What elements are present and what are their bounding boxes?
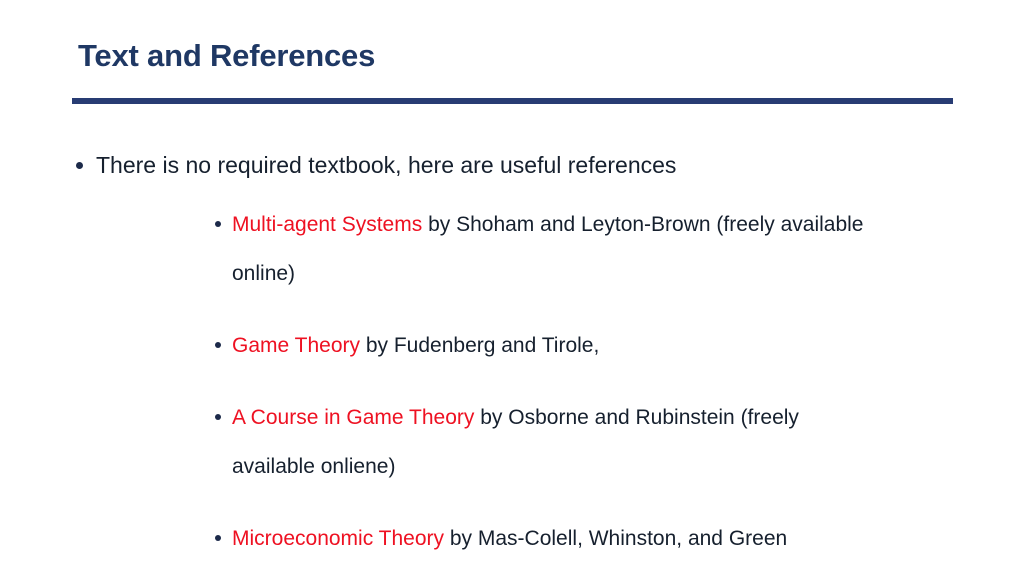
bullet-text: There is no required textbook, here are … (96, 152, 676, 178)
reference-detail: by Mas-Colell, Whinston, and Green (444, 527, 787, 550)
bullet-list-level-2: Multi-agent Systems by Shoham and Leyton… (96, 200, 964, 576)
reference-title: Microeconomic Theory (232, 527, 444, 550)
slide-body: There is no required textbook, here are … (0, 150, 1024, 576)
list-item: Multi-agent Systems by Shoham and Leyton… (96, 200, 964, 298)
reference-detail: by Fudenberg and Tirole, (360, 334, 599, 357)
bullet-list-level-1: There is no required textbook, here are … (0, 150, 1024, 576)
list-item: Game Theory by Fudenberg and Tirole, (96, 321, 964, 370)
bullet-dot-icon (215, 342, 221, 348)
bullet-dot-icon (215, 414, 221, 420)
reference-title: A Course in Game Theory (232, 406, 474, 429)
page-title: Text and References (78, 38, 375, 74)
title-divider-rule (72, 98, 953, 104)
bullet-dot-icon (215, 535, 221, 541)
bullet-dot-icon (215, 221, 221, 227)
list-item: A Course in Game Theory by Osborne and R… (96, 393, 964, 491)
bullet-dot-icon (76, 162, 83, 169)
reference-title: Multi-agent Systems (232, 213, 422, 236)
list-item: Microeconomic Theory by Mas-Colell, Whin… (96, 514, 964, 563)
reference-title: Game Theory (232, 334, 360, 357)
slide-canvas: Text and References There is no required… (0, 0, 1024, 576)
list-item: There is no required textbook, here are … (0, 150, 1024, 576)
